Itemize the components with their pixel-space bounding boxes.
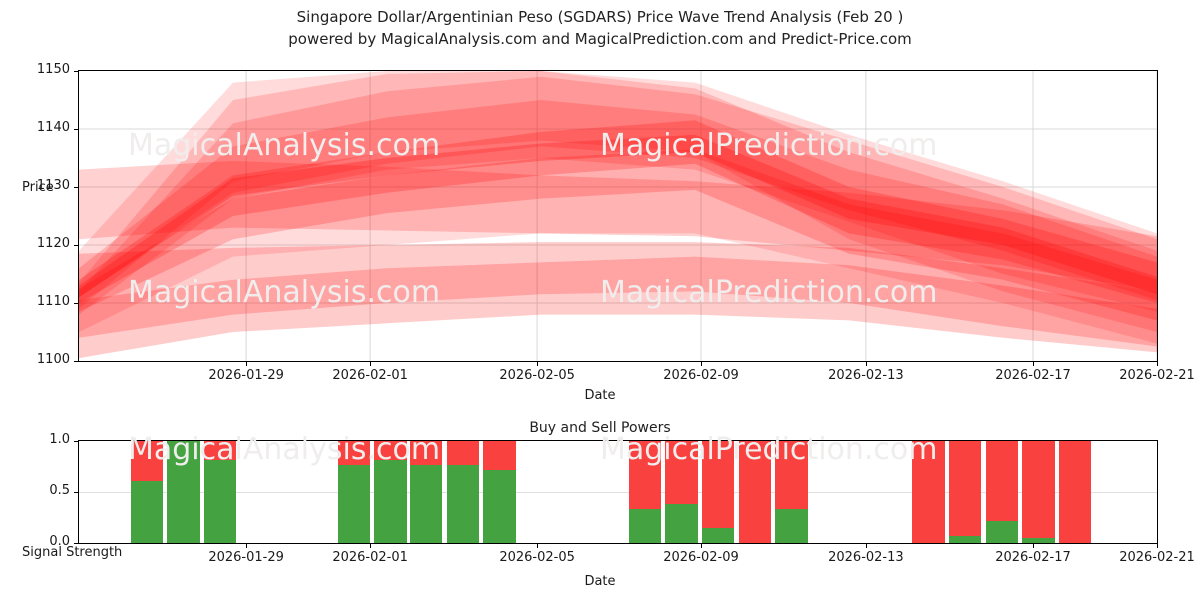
signal-bar[interactable] <box>167 441 199 543</box>
signal-bar[interactable] <box>131 441 163 543</box>
price-x-tick-label: 2026-02-05 <box>477 368 597 383</box>
signal-bar[interactable] <box>665 441 697 543</box>
price-y-tick-mark <box>74 361 78 362</box>
sell-power-segment <box>739 441 771 543</box>
price-y-tick-label: 1150 <box>10 62 70 77</box>
sell-power-segment <box>629 441 661 509</box>
buy-power-segment <box>447 465 479 544</box>
price-x-tick-mark <box>866 362 867 366</box>
price-y-tick-label: 1140 <box>10 120 70 135</box>
sell-power-segment <box>665 441 697 504</box>
page-title: Singapore Dollar/Argentinian Peso (SGDAR… <box>0 6 1200 50</box>
signal-bar[interactable] <box>702 441 734 543</box>
sell-power-segment <box>410 441 442 465</box>
signal-y-tick-mark <box>74 441 78 442</box>
signal-x-tick-mark <box>370 544 371 548</box>
signal-x-tick-label: 2026-02-01 <box>310 550 430 565</box>
price-y-tick-mark <box>74 245 78 246</box>
signal-bar[interactable] <box>447 441 479 543</box>
buy-power-segment <box>374 460 406 543</box>
price-wave-plot-area <box>78 70 1158 362</box>
price-y-tick-label: 1120 <box>10 236 70 251</box>
signal-bar[interactable] <box>374 441 406 543</box>
signal-x-tick-label: 2026-02-13 <box>806 550 926 565</box>
price-x-tick-mark <box>701 362 702 366</box>
buy-power-segment <box>665 504 697 543</box>
buy-power-segment <box>131 481 163 543</box>
signal-y-tick-label: 0.5 <box>18 483 70 498</box>
buy-power-segment <box>1022 538 1054 543</box>
price-x-axis-title: Date <box>0 388 1200 403</box>
price-x-tick-mark <box>1157 362 1158 366</box>
signal-bar[interactable] <box>1059 441 1091 543</box>
sell-power-segment <box>447 441 479 465</box>
signal-bar[interactable] <box>949 441 981 543</box>
title-line-2: powered by MagicalAnalysis.com and Magic… <box>0 28 1200 50</box>
signal-y-tick-mark <box>74 492 78 493</box>
signal-y-tick-label: 1.0 <box>18 432 70 447</box>
sell-power-segment <box>483 441 515 470</box>
price-y-axis-title: Price <box>22 180 54 195</box>
signal-bar[interactable] <box>410 441 442 543</box>
signal-bar[interactable] <box>986 441 1018 543</box>
price-x-tick-label: 2026-02-01 <box>310 368 430 383</box>
price-y-tick-mark <box>74 129 78 130</box>
signal-x-tick-mark <box>701 544 702 548</box>
price-y-tick-label: 1110 <box>10 294 70 309</box>
signal-bar[interactable] <box>775 441 807 543</box>
signal-x-axis-title: Date <box>0 574 1200 589</box>
signal-bar[interactable] <box>1022 441 1054 543</box>
sell-power-segment <box>204 441 236 460</box>
signal-bar[interactable] <box>629 441 661 543</box>
signal-x-tick-mark <box>1157 544 1158 548</box>
sell-power-segment <box>775 441 807 509</box>
buy-power-segment <box>702 528 734 543</box>
sell-power-segment <box>1059 441 1091 543</box>
price-x-tick-mark <box>370 362 371 366</box>
buy-sell-powers-plot-area <box>78 440 1158 544</box>
buy-power-segment <box>338 465 370 544</box>
buy-power-segment <box>629 509 661 543</box>
signal-bar[interactable] <box>739 441 771 543</box>
sell-power-segment <box>374 441 406 460</box>
title-line-1: Singapore Dollar/Argentinian Peso (SGDAR… <box>0 6 1200 28</box>
price-x-tick-label: 2026-02-13 <box>806 368 926 383</box>
sell-power-segment <box>949 441 981 536</box>
price-x-tick-mark <box>246 362 247 366</box>
price-x-tick-label: 2026-01-29 <box>186 368 306 383</box>
price-x-tick-mark <box>1033 362 1034 366</box>
signal-x-tick-mark <box>866 544 867 548</box>
sell-power-segment <box>338 441 370 465</box>
signal-x-tick-label: 2026-02-09 <box>641 550 761 565</box>
chart-page: Singapore Dollar/Argentinian Peso (SGDAR… <box>0 0 1200 600</box>
price-y-tick-label: 1100 <box>10 352 70 367</box>
signal-x-tick-label: 2026-02-17 <box>973 550 1093 565</box>
price-y-tick-mark <box>74 303 78 304</box>
signal-chart-title: Buy and Sell Powers <box>0 420 1200 436</box>
sell-power-segment <box>912 441 944 543</box>
price-x-tick-label: 2026-02-09 <box>641 368 761 383</box>
price-x-tick-label: 2026-02-17 <box>973 368 1093 383</box>
price-y-tick-mark <box>74 71 78 72</box>
price-wave-svg <box>79 71 1157 361</box>
buy-power-segment <box>204 460 236 543</box>
sell-power-segment <box>702 441 734 528</box>
price-y-tick-mark <box>74 187 78 188</box>
sell-power-segment <box>986 441 1018 521</box>
signal-x-tick-mark <box>1033 544 1034 548</box>
signal-bar[interactable] <box>204 441 236 543</box>
signal-x-tick-label: 2026-01-29 <box>186 550 306 565</box>
buy-power-segment <box>167 441 199 543</box>
buy-power-segment <box>775 509 807 543</box>
signal-bar[interactable] <box>912 441 944 543</box>
buy-power-segment <box>410 465 442 544</box>
buy-power-segment <box>483 470 515 543</box>
signal-x-tick-label: 2026-02-21 <box>1097 550 1200 565</box>
signal-bar[interactable] <box>338 441 370 543</box>
signal-x-tick-label: 2026-02-05 <box>477 550 597 565</box>
signal-y-tick-mark <box>74 543 78 544</box>
signal-x-tick-mark <box>537 544 538 548</box>
signal-y-axis-title: Signal Strength <box>22 545 122 560</box>
signal-bar[interactable] <box>483 441 515 543</box>
sell-power-segment <box>131 441 163 481</box>
buy-power-segment <box>949 536 981 543</box>
sell-power-segment <box>1022 441 1054 538</box>
buy-power-segment <box>986 521 1018 543</box>
price-x-tick-label: 2026-02-21 <box>1097 368 1200 383</box>
signal-x-tick-mark <box>246 544 247 548</box>
price-x-tick-mark <box>537 362 538 366</box>
